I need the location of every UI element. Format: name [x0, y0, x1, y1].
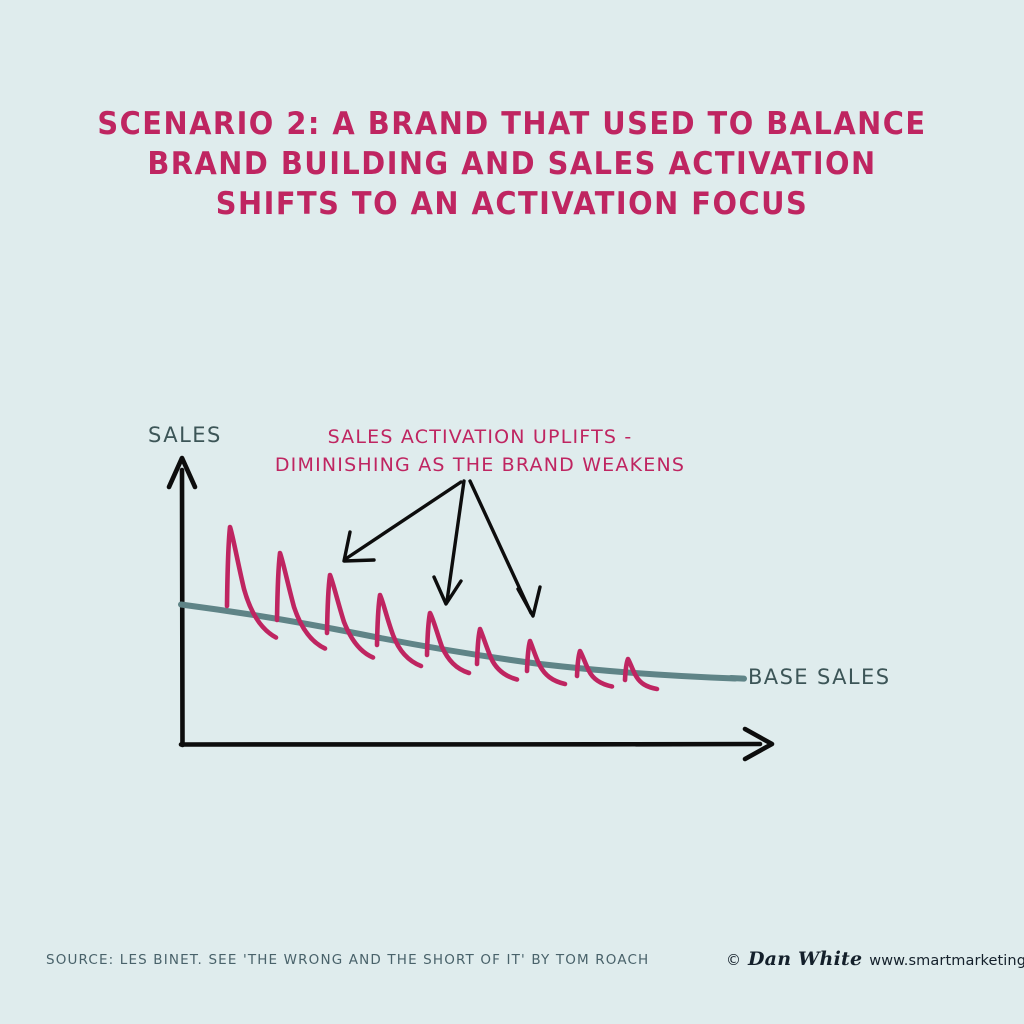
sales-activation-chart	[0, 0, 1024, 1024]
spike-1	[227, 527, 276, 638]
x-axis	[181, 729, 772, 759]
source-citation: SOURCE: LES BINET. SEE 'THE WRONG AND TH…	[46, 952, 649, 968]
y-axis-label: SALES	[148, 423, 222, 447]
infographic-canvas: SCENARIO 2: A BRAND THAT USED TO BALANCE…	[0, 0, 1024, 1024]
spike-3	[327, 575, 373, 658]
spike-2	[277, 553, 325, 649]
activation-uplift-curve	[227, 527, 657, 689]
author-name: Dan White	[748, 948, 862, 970]
base-sales-legend-dash	[731, 678, 744, 679]
callout-arrow-1-shaft	[347, 482, 461, 558]
copyright-icon: ©	[726, 951, 741, 969]
credit-block: © Dan White www.smartmarketing.me	[726, 948, 1024, 970]
y-axis	[169, 458, 195, 745]
base-sales-legend-label: BASE SALES	[748, 665, 890, 689]
spike-4	[377, 595, 421, 666]
website-url[interactable]: www.smartmarketing.me	[869, 953, 1024, 969]
callout-arrows	[344, 481, 540, 616]
spike-5	[427, 613, 469, 673]
